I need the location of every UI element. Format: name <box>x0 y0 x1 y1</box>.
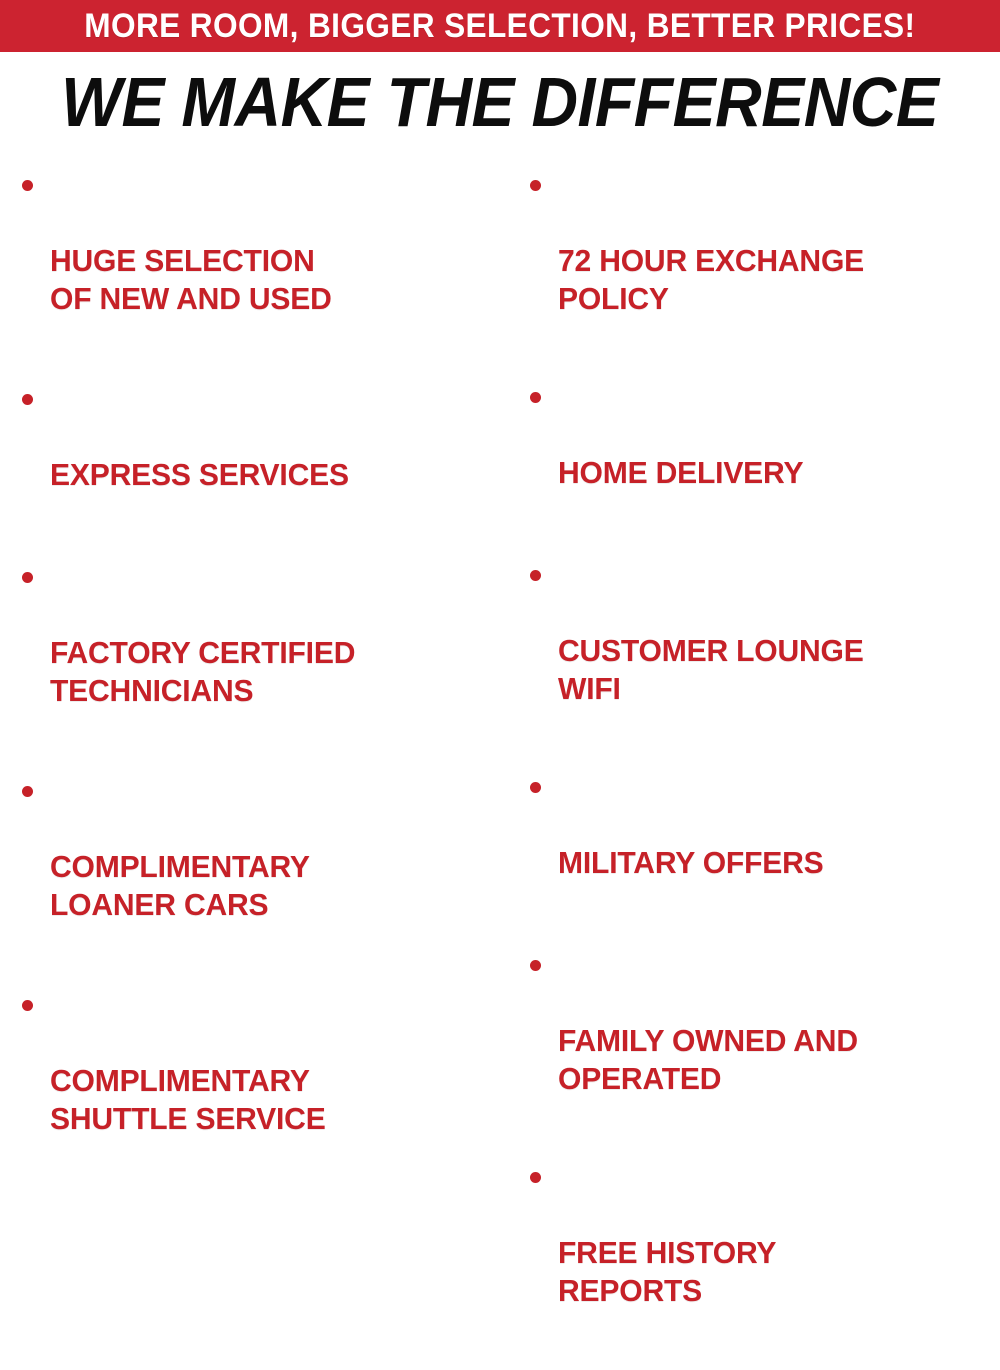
bullet-dot-icon <box>22 786 33 797</box>
promo-banner-text: MORE ROOM, BIGGER SELECTION, BETTER PRIC… <box>84 9 915 43</box>
list-item: EXPRESS SERVICES <box>18 380 510 532</box>
bullet-dot-icon <box>530 1172 541 1183</box>
bullet-dot-icon <box>530 180 541 191</box>
headline-section: WE MAKE THE DIFFERENCE <box>0 52 1000 152</box>
list-item-label: FAMILY OWNED AND OPERATED <box>558 1022 987 1098</box>
list-item-label: HUGE SELECTION OF NEW AND USED <box>50 242 496 318</box>
list-item: HUGE SELECTION OF NEW AND USED <box>18 166 510 356</box>
features-column-left: HUGE SELECTION OF NEW AND USED EXPRESS S… <box>0 152 510 1200</box>
list-item-label: HOME DELIVERY <box>558 454 987 492</box>
list-item-label: FREE HISTORY REPORTS <box>558 1234 987 1310</box>
list-item-label: CUSTOMER LOUNGE WIFI <box>558 632 987 708</box>
bullet-dot-icon <box>22 572 33 583</box>
list-item: 72 HOUR EXCHANGE POLICY <box>526 166 1000 356</box>
features-columns: HUGE SELECTION OF NEW AND USED EXPRESS S… <box>0 152 1000 694</box>
list-item-label: COMPLIMENTARY LOANER CARS <box>50 848 496 924</box>
list-item: COMPLIMENTARY SHUTTLE SERVICE <box>18 986 510 1176</box>
bullet-dot-icon <box>530 570 541 581</box>
promo-banner: MORE ROOM, BIGGER SELECTION, BETTER PRIC… <box>0 0 1000 52</box>
list-item-label: COMPLIMENTARY SHUTTLE SERVICE <box>50 1062 496 1138</box>
page-title: WE MAKE THE DIFFERENCE <box>61 67 938 137</box>
list-item-label: FACTORY CERTIFIED TECHNICIANS <box>50 634 496 710</box>
list-item: MILITARY OFFERS <box>526 768 1000 920</box>
list-item: FREE HISTORY REPORTS <box>526 1158 1000 1348</box>
features-column-right: 72 HOUR EXCHANGE POLICY HOME DELIVERY CU… <box>510 152 1000 1370</box>
list-item: CUSTOMER LOUNGE WIFI <box>526 556 1000 746</box>
list-item-label: 72 HOUR EXCHANGE POLICY <box>558 242 987 318</box>
bullet-dot-icon <box>530 960 541 971</box>
list-item: FACTORY CERTIFIED TECHNICIANS <box>18 558 510 748</box>
bullet-dot-icon <box>530 392 541 403</box>
list-item: HOME DELIVERY <box>526 378 1000 530</box>
list-item-label: EXPRESS SERVICES <box>50 456 496 494</box>
bullet-dot-icon <box>22 180 33 191</box>
bullet-dot-icon <box>530 782 541 793</box>
list-item-label: MILITARY OFFERS <box>558 844 987 882</box>
bullet-dot-icon <box>22 394 33 405</box>
list-item: FAMILY OWNED AND OPERATED <box>526 946 1000 1136</box>
bullet-dot-icon <box>22 1000 33 1011</box>
list-item: COMPLIMENTARY LOANER CARS <box>18 772 510 962</box>
